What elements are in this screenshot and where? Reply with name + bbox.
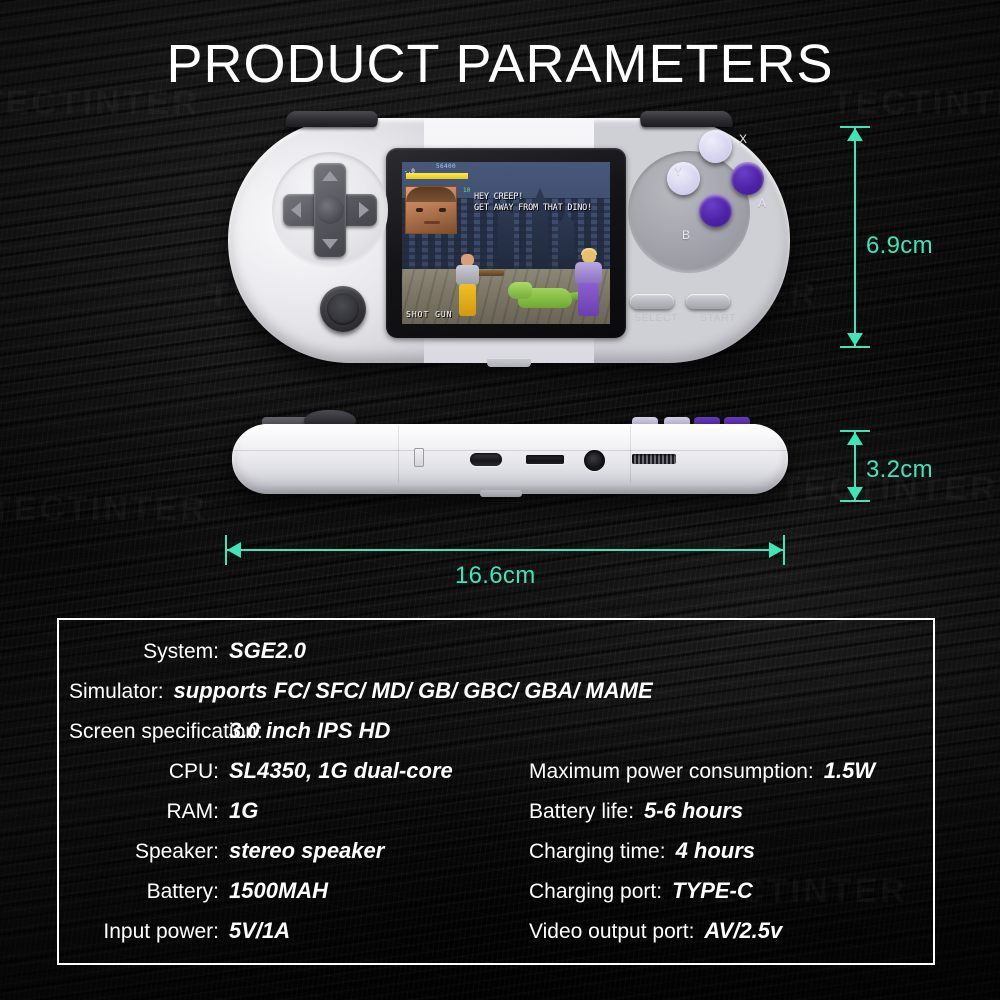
game-pickup-counter: 10	[463, 187, 470, 194]
game-dialog-line-1: HEY CREEP!	[474, 192, 606, 203]
spec-value: 3.0 inch IPS HD	[229, 718, 390, 744]
game-dialog-line-2: GET AWAY FROM THAT DINO!	[474, 203, 606, 214]
spec-left-cell: RAM:1G	[59, 798, 529, 824]
game-tower	[498, 213, 514, 269]
width-dimension-label: 16.6cm	[455, 562, 536, 590]
hero-legs	[459, 284, 476, 316]
spec-value: 5V/1A	[229, 918, 290, 944]
spec-row: RAM:1GBattery life:5-6 hours	[59, 798, 933, 838]
button-a-label: A	[758, 196, 766, 210]
dino-head	[508, 282, 532, 299]
depth-dim-cap-bottom	[840, 500, 870, 502]
shoulder-button-right[interactable]	[639, 111, 734, 127]
speaker-grille-icon	[632, 454, 676, 464]
dpad-up-arrow-icon[interactable]	[322, 171, 338, 181]
spec-right-cell: Maximum power consumption:1.5W	[529, 758, 929, 784]
portrait-eye-right	[439, 208, 446, 212]
button-y-label: Y	[674, 164, 682, 178]
console-edge-foot	[480, 490, 522, 497]
specifications-box: System:SGE2.0Simulator:supports FC/ SFC/…	[57, 618, 935, 965]
width-dim-arrow-left-icon	[227, 542, 241, 558]
spec-right-cell: Video output port:AV/2.5v	[529, 918, 929, 944]
hero-torso	[456, 265, 479, 285]
button-x-label: X	[739, 132, 747, 146]
spec-label: Battery life:	[529, 800, 634, 824]
dpad[interactable]	[283, 163, 377, 257]
spec-right-cell: Charging time:4 hours	[529, 838, 929, 864]
game-character-portrait	[405, 186, 457, 234]
spec-value: supports FC/ SFC/ MD/ GB/ GBC/ GBA/ MAME	[174, 678, 653, 704]
height-dim-arrow-up-icon	[847, 128, 863, 141]
spec-left-cell: Screen specification:3.0 inch IPS HD	[59, 718, 529, 744]
game-sprite-hero	[454, 254, 482, 316]
tf-card-slot-icon	[526, 455, 564, 464]
game-life-counter: -.0	[404, 168, 415, 175]
height-dim-cap-bottom	[840, 346, 870, 348]
usb-c-port-icon	[470, 453, 502, 466]
spec-right-cell: Charging port:TYPE-C	[529, 878, 929, 904]
console-edge-seam	[232, 450, 788, 451]
button-x[interactable]	[699, 130, 732, 163]
headphone-jack-icon	[584, 450, 605, 471]
page-title: PRODUCT PARAMETERS	[0, 33, 1000, 95]
spec-label: Charging time:	[529, 840, 666, 864]
game-tower	[558, 221, 574, 269]
portrait-eye-left	[416, 208, 423, 212]
dpad-left-arrow-icon[interactable]	[291, 202, 301, 218]
spec-row: Battery:1500MAHCharging port:TYPE-C	[59, 878, 933, 918]
depth-dim-arrow-up-icon	[847, 432, 863, 445]
width-dim-arrow-right-icon	[769, 542, 783, 558]
spec-label: Maximum power consumption:	[529, 760, 814, 784]
villain-torso	[575, 262, 602, 284]
spec-label: CPU:	[69, 760, 219, 784]
spec-left-cell: Battery:1500MAH	[59, 878, 529, 904]
spec-label: Charging port:	[529, 880, 662, 904]
spec-value: AV/2.5v	[704, 918, 782, 944]
spec-value: TYPE-C	[672, 878, 753, 904]
portrait-mouth	[424, 221, 440, 224]
spec-value: 5-6 hours	[644, 798, 743, 824]
spec-row: CPU:SL4350, 1G dual-coreMaximum power co…	[59, 758, 933, 798]
spec-value: SL4350, 1G dual-core	[229, 758, 453, 784]
button-b-label: B	[682, 228, 690, 242]
analog-stick[interactable]	[320, 286, 366, 332]
specifications-grid: System:SGE2.0Simulator:supports FC/ SFC/…	[59, 620, 933, 963]
spec-label: RAM:	[69, 800, 219, 824]
console-edge-panel-line-left	[398, 426, 399, 482]
width-dim-cap-right	[783, 535, 785, 565]
spec-value: 1500MAH	[229, 878, 328, 904]
console-edge-panel-line-right	[630, 426, 631, 482]
watermark: TECTINTER	[0, 490, 208, 529]
game-screen: 56400 -.0 10 HEY CREEP! GET AWAY FROM TH…	[402, 162, 610, 324]
height-dimension-label: 6.9cm	[866, 232, 933, 260]
spec-value: stereo speaker	[229, 838, 384, 864]
spec-label: Video output port:	[529, 920, 694, 944]
villain-legs	[578, 283, 599, 316]
product-parameters-infographic: TECTINTER TECTINTER TECTINTER TECTINTER …	[0, 0, 1000, 1000]
spec-label: Screen specification:	[69, 720, 219, 744]
dpad-down-arrow-icon[interactable]	[322, 239, 338, 249]
game-score: 56400	[436, 163, 456, 170]
dpad-hub	[316, 196, 344, 224]
handheld-console-front-view: 56400 -.0 10 HEY CREEP! GET AWAY FROM TH…	[228, 118, 790, 363]
spec-left-cell: System:SGE2.0	[59, 638, 529, 664]
spec-row: Input power:5V/1AVideo output port:AV/2.…	[59, 918, 933, 958]
spec-label: Input power:	[69, 920, 219, 944]
start-button[interactable]	[686, 294, 730, 309]
spec-label: Battery:	[69, 880, 219, 904]
spec-value: 4 hours	[676, 838, 755, 864]
game-sprite-villain	[574, 250, 604, 316]
button-b[interactable]	[699, 194, 732, 227]
spec-left-cell: Input power:5V/1A	[59, 918, 529, 944]
depth-dimension-label: 3.2cm	[866, 456, 933, 484]
height-dim-line	[854, 128, 856, 346]
game-sprite-dino	[510, 280, 584, 314]
spec-row: Simulator:supports FC/ SFC/ MD/ GB/ GBC/…	[59, 678, 933, 718]
spec-label: Speaker:	[69, 840, 219, 864]
depth-dim-arrow-down-icon	[847, 487, 863, 500]
spec-label: Simulator:	[69, 680, 164, 704]
game-health-bar	[406, 173, 468, 179]
console-edge-body	[232, 424, 788, 494]
spec-left-cell: Simulator:supports FC/ SFC/ MD/ GB/ GBC/…	[59, 678, 529, 704]
width-dim-line	[227, 549, 783, 551]
spec-row: Speaker:stereo speakerCharging time:4 ho…	[59, 838, 933, 878]
spec-right-cell: Battery life:5-6 hours	[529, 798, 929, 824]
portrait-hair	[406, 187, 456, 202]
spec-label: System:	[69, 640, 219, 664]
screen-bezel: 56400 -.0 10 HEY CREEP! GET AWAY FROM TH…	[386, 148, 626, 338]
button-a[interactable]	[731, 162, 764, 195]
button-y[interactable]	[667, 162, 700, 195]
spec-value: 1G	[229, 798, 258, 824]
select-button-label: SELECT	[634, 312, 678, 324]
front-bottom-notch	[487, 359, 531, 367]
spec-left-cell: Speaker:stereo speaker	[59, 838, 529, 864]
spec-row: System:SGE2.0	[59, 638, 933, 678]
height-dim-arrow-down-icon	[847, 333, 863, 346]
power-switch[interactable]	[414, 448, 424, 467]
shoulder-button-left[interactable]	[285, 111, 380, 127]
handheld-console-bottom-edge-view	[232, 410, 788, 502]
spec-value: 1.5W	[824, 758, 875, 784]
select-button[interactable]	[630, 294, 674, 309]
spec-left-cell: CPU:SL4350, 1G dual-core	[59, 758, 529, 784]
spec-value: SGE2.0	[229, 638, 306, 664]
spec-row: Screen specification:3.0 inch IPS HD	[59, 718, 933, 758]
game-weapon-label: SHOT GUN	[406, 310, 453, 319]
game-dialog-text: HEY CREEP! GET AWAY FROM THAT DINO!	[474, 192, 606, 215]
start-button-label: START	[700, 312, 736, 324]
dpad-right-arrow-icon[interactable]	[359, 202, 369, 218]
